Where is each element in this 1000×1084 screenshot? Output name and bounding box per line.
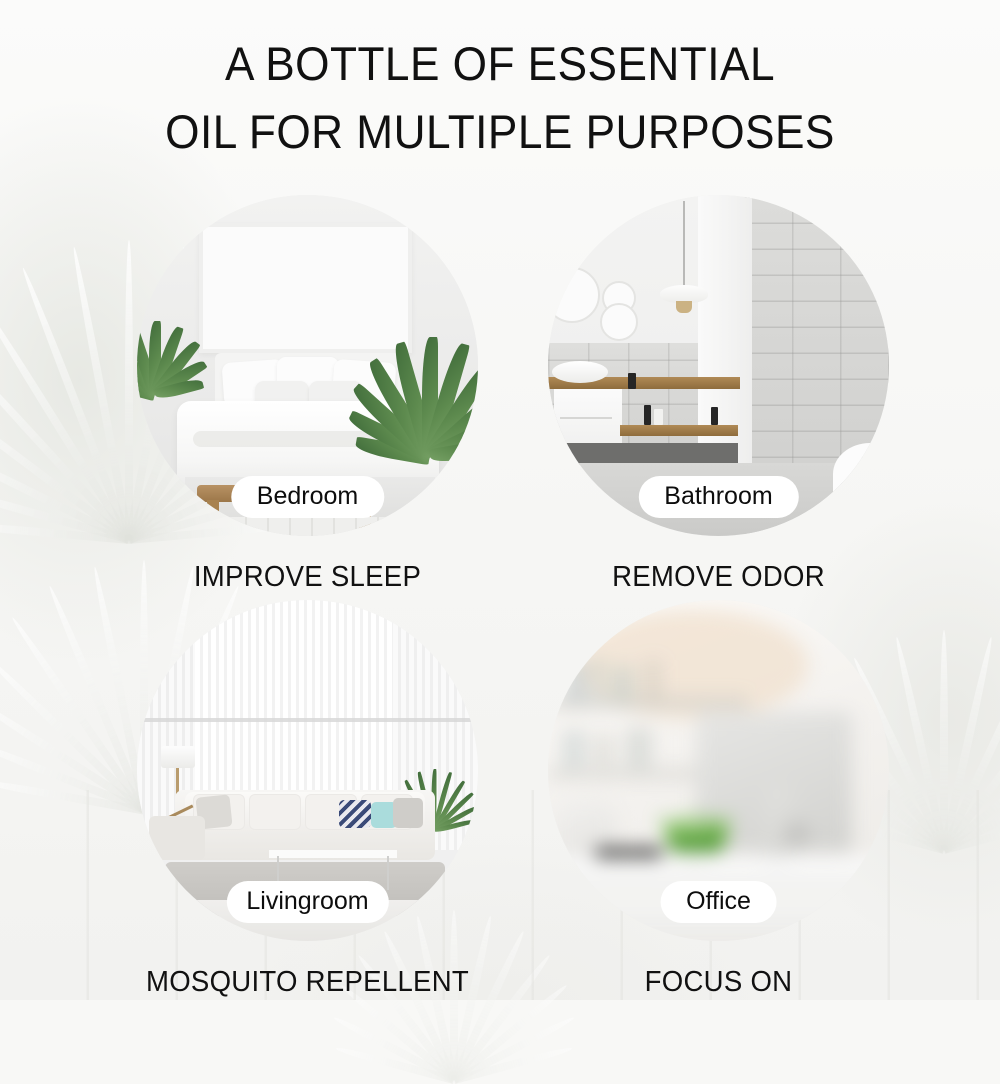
scene-caption: MOSQUITO REPELLENT xyxy=(146,965,470,999)
scene-thumbnail-office[interactable]: Office xyxy=(548,600,889,941)
scene-caption: IMPROVE SLEEP xyxy=(146,560,470,594)
scene-pill-label: Office xyxy=(660,881,777,923)
scene-pill-label: Bathroom xyxy=(638,476,798,518)
scene-caption: FOCUS ON xyxy=(557,965,881,999)
scene-thumbnail-bathroom[interactable]: Bathroom xyxy=(548,195,889,536)
page-title-line-2: OIL FOR MULTIPLE PURPOSES xyxy=(30,98,970,166)
scene-card-office[interactable]: Office FOCUS ON xyxy=(548,600,889,999)
scene-card-livingroom[interactable]: Livingroom MOSQUITO REPELLENT xyxy=(137,600,478,999)
scene-card-bedroom[interactable]: Bedroom IMPROVE SLEEP xyxy=(137,195,478,594)
scene-pill-label: Bedroom xyxy=(231,476,384,518)
scene-grid: Bedroom IMPROVE SLEEP xyxy=(0,195,1000,1005)
page-title-line-1: A BOTTLE OF ESSENTIAL xyxy=(30,30,970,98)
scene-pill-label: Livingroom xyxy=(226,881,388,923)
scene-caption: REMOVE ODOR xyxy=(557,560,881,594)
scene-thumbnail-livingroom[interactable]: Livingroom xyxy=(137,600,478,941)
scene-row: Bedroom IMPROVE SLEEP xyxy=(0,195,1000,600)
page-title: A BOTTLE OF ESSENTIAL OIL FOR MULTIPLE P… xyxy=(30,30,970,166)
scene-row: Livingroom MOSQUITO REPELLENT xyxy=(0,600,1000,1005)
scene-thumbnail-bedroom[interactable]: Bedroom xyxy=(137,195,478,536)
scene-card-bathroom[interactable]: Bathroom REMOVE ODOR xyxy=(548,195,889,594)
